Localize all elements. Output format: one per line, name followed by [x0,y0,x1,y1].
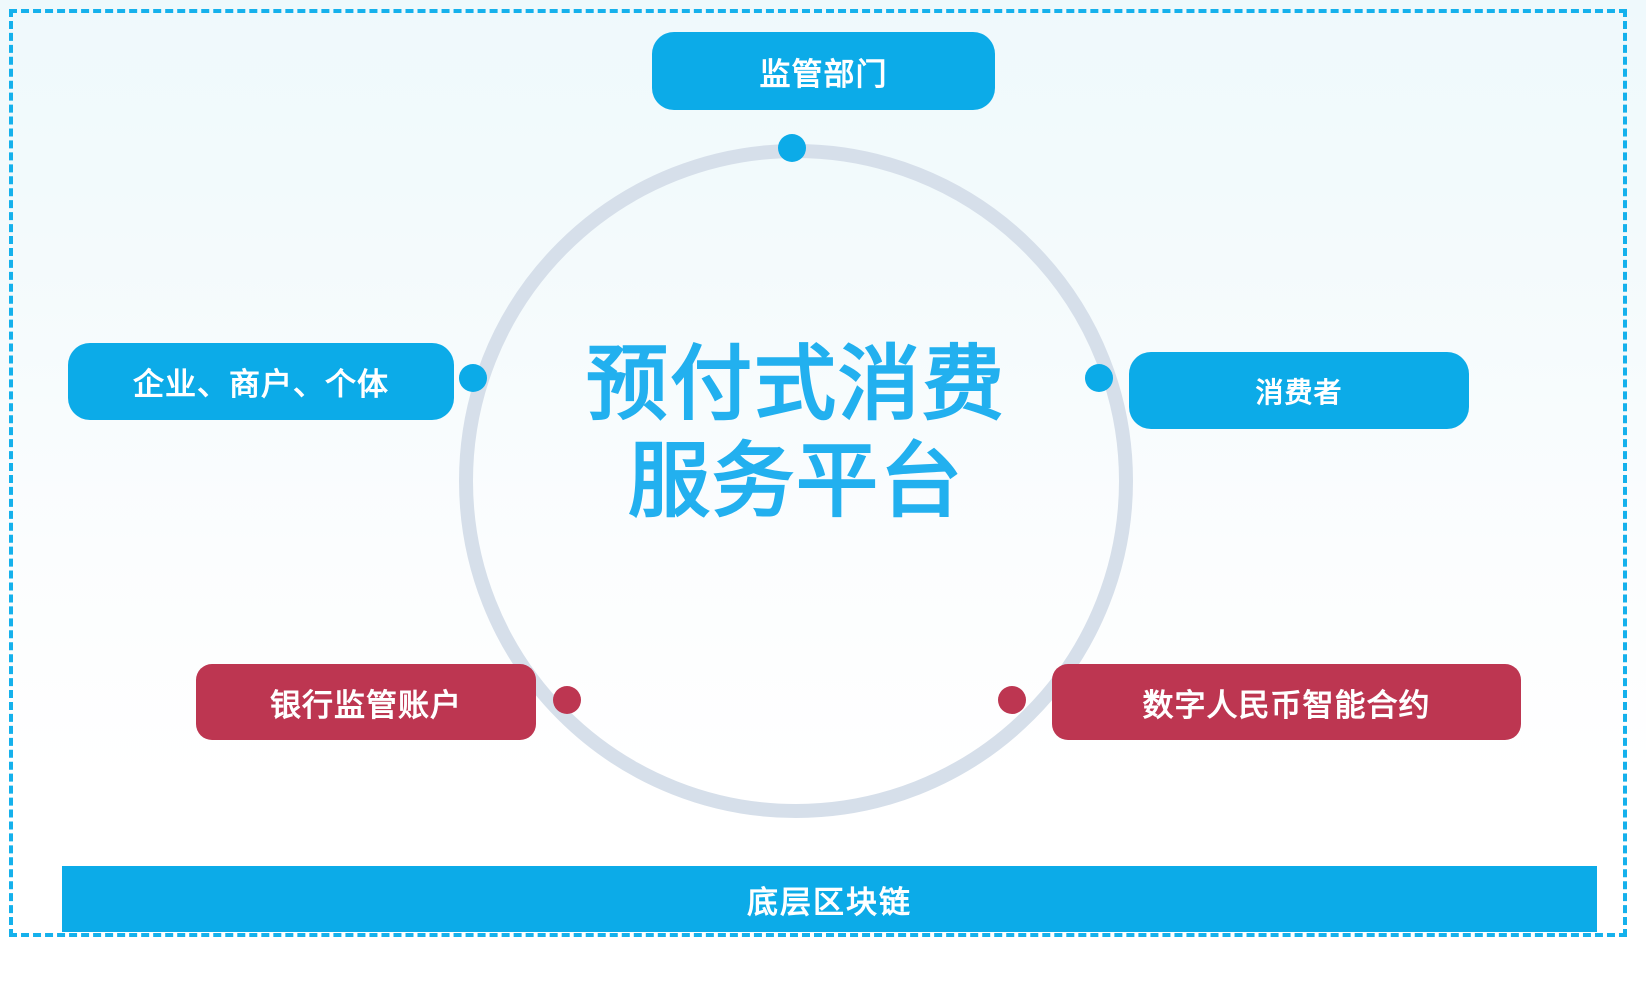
node-enterprises-label: 企业、商户、个体 [133,359,389,404]
node-regulator[interactable]: 监管部门 [652,32,995,110]
node-enterprises[interactable]: 企业、商户、个体 [68,343,454,420]
foundation-blockchain-label: 底层区块链 [747,877,912,922]
node-bank-supervision-account[interactable]: 银行监管账户 [196,664,536,740]
node-dot-bottom-right [998,686,1026,714]
node-regulator-label: 监管部门 [760,49,888,94]
foundation-blockchain-bar[interactable]: 底层区块链 [62,866,1597,932]
center-title-line-1: 预付式消费 [486,337,1106,434]
node-dot-top [778,134,806,162]
diagram-canvas: 监管部门 企业、商户、个体 消费者 银行监管账户 数字人民币智能合约 预付式消费… [0,0,1646,1000]
node-digital-rmb-smart-contract-label: 数字人民币智能合约 [1143,680,1431,725]
node-bank-supervision-account-label: 银行监管账户 [270,680,462,725]
center-title-line-2: 服务平台 [486,434,1106,531]
node-digital-rmb-smart-contract[interactable]: 数字人民币智能合约 [1052,664,1521,740]
node-dot-left [459,364,487,392]
node-consumers[interactable]: 消费者 [1129,352,1469,429]
node-consumers-label: 消费者 [1255,371,1342,411]
center-platform-title: 预付式消费 服务平台 [486,337,1106,531]
node-dot-bottom-left [553,686,581,714]
